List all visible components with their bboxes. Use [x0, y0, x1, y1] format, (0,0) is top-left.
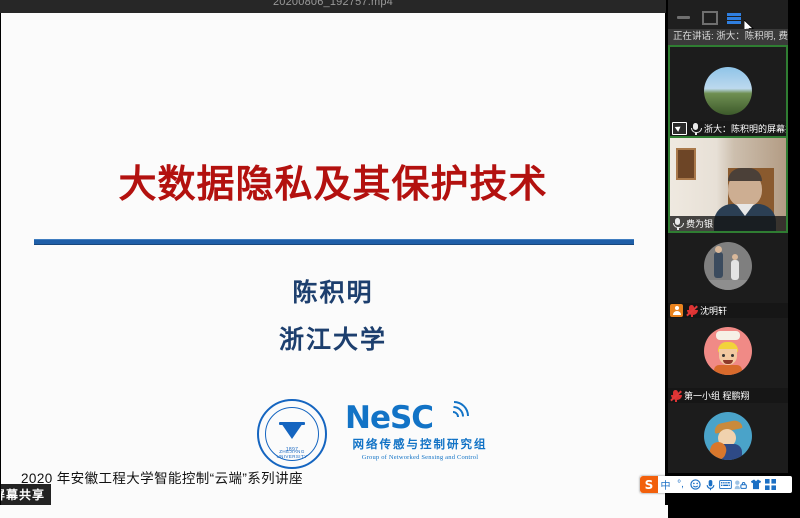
- player-titlebar: 20200806_192757.mp4: [0, 0, 666, 13]
- zju-logo-bird: [281, 423, 303, 439]
- emoji-icon[interactable]: [688, 476, 703, 493]
- zju-logo-ring: 1897 ZHEJIANG UNIVERSITY: [265, 407, 319, 461]
- slide-title: 大数据隐私及其保护技术: [1, 153, 665, 208]
- zhejiang-university-logo: 1897 ZHEJIANG UNIVERSITY: [257, 399, 327, 469]
- screen-root: 20200806_192757.mp4 大数据隐私及其保护技术 陈积明 浙江大学…: [0, 0, 800, 518]
- nesc-wordmark-text: NeSC: [345, 400, 433, 436]
- slide-logos: 1897 ZHEJIANG UNIVERSITY NeSC 网络传感与控制研究组…: [1, 399, 665, 471]
- ime-settings-icon[interactable]: [733, 476, 748, 493]
- nesc-logo: NeSC 网络传感与控制研究组 Group of Networked Sensi…: [345, 401, 495, 461]
- player-filename: 20200806_192757.mp4: [273, 0, 393, 9]
- slide-footer: 2020 年安徽工程大学智能控制“云端”系列讲座: [21, 467, 303, 487]
- soft-keyboard-icon[interactable]: [718, 476, 733, 493]
- avatar: [704, 242, 752, 290]
- meeting-sidebar: 正在讲话: 浙大：陈积明, 费为… 浙大：陈积明的屏幕共享: [668, 0, 788, 518]
- participant-label: 沈明轩: [668, 303, 788, 318]
- participant-tile[interactable]: [668, 403, 788, 473]
- participant-tile[interactable]: 第一小组 程鹏翔: [668, 318, 788, 403]
- participant-name: 浙大：陈积明的屏幕共享: [704, 122, 786, 135]
- sogou-ime-toolbar[interactable]: S 中 °,: [640, 476, 792, 493]
- nesc-english-name: Group of Networked Sensing and Control: [345, 454, 495, 461]
- wifi-icon: [441, 397, 481, 421]
- nesc-wordmark: NeSC: [345, 401, 495, 435]
- maximize-button[interactable]: [701, 10, 717, 23]
- participant-label: 费为银: [670, 216, 786, 231]
- window-controls: [668, 8, 788, 26]
- participant-tile[interactable]: 浙大：陈积明的屏幕共享: [668, 45, 788, 138]
- participant-name: 第一小组 程鹏翔: [684, 389, 750, 402]
- host-icon: [670, 304, 683, 317]
- participant-label: 第一小组 程鹏翔: [668, 388, 788, 403]
- shared-slide: 大数据隐私及其保护技术 陈积明 浙江大学 1897 ZHEJIANG UNIVE…: [1, 13, 665, 505]
- title-divider: [34, 239, 634, 245]
- mic-icon: [690, 122, 701, 135]
- mic-muted-icon: [670, 389, 681, 402]
- participant-label: 浙大：陈积明的屏幕共享: [670, 121, 786, 136]
- participant-thumbnail-list[interactable]: 浙大：陈积明的屏幕共享 费为银: [668, 45, 788, 473]
- active-speaker-status: 正在讲话: 浙大：陈积明, 费为…: [668, 29, 788, 45]
- mic-muted-icon: [686, 304, 697, 317]
- right-edge-filler: [788, 0, 800, 518]
- avatar: [704, 67, 752, 115]
- ime-skin-icon[interactable]: [748, 476, 763, 493]
- minimize-button[interactable]: [676, 10, 692, 23]
- nesc-chinese-name: 网络传感与控制研究组: [345, 436, 495, 452]
- voice-input-icon[interactable]: [703, 476, 718, 493]
- ime-chinese-mode-button[interactable]: 中: [658, 476, 673, 493]
- ime-apps-icon[interactable]: [763, 476, 778, 493]
- participant-tile[interactable]: 沈明轩: [668, 233, 788, 318]
- participant-name: 费为银: [686, 217, 713, 230]
- avatar: [704, 327, 752, 375]
- zju-logo-arc-text: ZHEJIANG UNIVERSITY: [266, 449, 318, 459]
- screen-share-icon: [672, 122, 687, 135]
- participant-tile[interactable]: 费为银: [668, 138, 788, 233]
- participant-name: 沈明轩: [700, 304, 727, 317]
- ime-punctuation-button[interactable]: °,: [673, 476, 688, 493]
- mic-icon: [672, 217, 683, 230]
- slide-affiliation: 浙江大学: [1, 320, 665, 356]
- screen-share-banner: 屏幕共享: [1, 484, 51, 505]
- menu-button[interactable]: [726, 10, 742, 23]
- slide-author: 陈积明: [1, 273, 665, 309]
- avatar: [704, 412, 752, 460]
- sogou-logo-icon[interactable]: S: [640, 476, 658, 493]
- slide-bottom-filler: [0, 505, 668, 518]
